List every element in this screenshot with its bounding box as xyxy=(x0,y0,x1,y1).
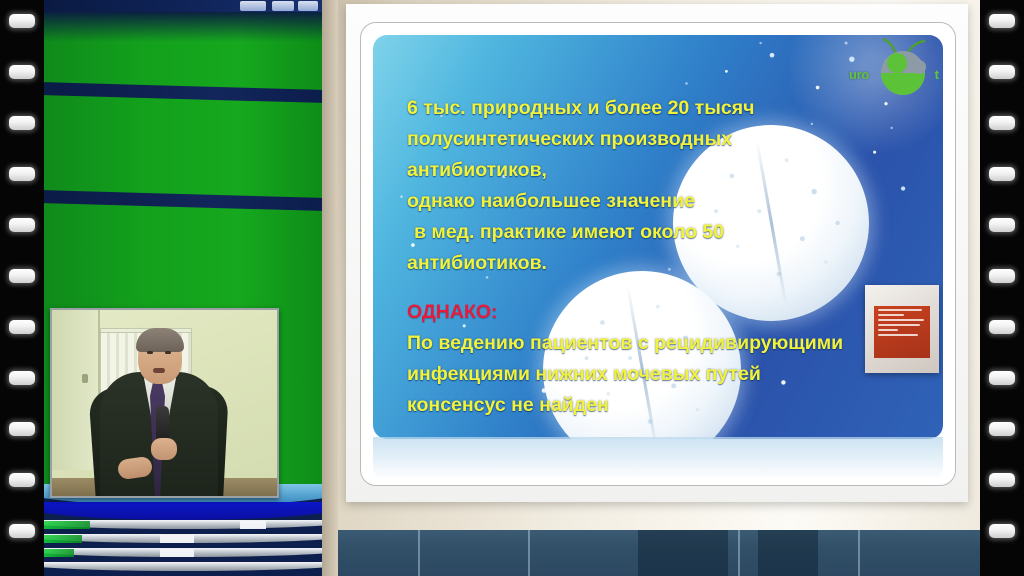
desk-green-accent xyxy=(44,521,90,529)
slide-spacer xyxy=(407,279,927,297)
video-door-knob xyxy=(82,374,88,383)
presentation-board[interactable]: uro t 6 тыс. природных и более 20 тысяч … xyxy=(346,4,968,502)
logo-text-right: t xyxy=(935,67,939,82)
studio-backdrop xyxy=(44,0,322,576)
slide-line: полусинтетических производных xyxy=(407,124,927,155)
slide-line: 6 тыс. природных и более 20 тысяч xyxy=(407,93,927,124)
slide-line: в мед. практике имеют около 50 xyxy=(407,217,927,248)
slide-line: инфекциями нижних мочевых путей xyxy=(407,359,927,390)
slide-line: антибиотиков, xyxy=(407,155,927,186)
broadcast-scene: uro t 6 тыс. природных и более 20 тысяч … xyxy=(44,0,980,576)
ceiling-light xyxy=(272,1,294,11)
film-strip-left xyxy=(0,0,44,576)
slide-text-block: 6 тыс. природных и более 20 тысяч полуси… xyxy=(407,93,927,421)
speaker-eye-right xyxy=(165,351,171,354)
film-sprocket-hole xyxy=(989,320,1015,334)
film-sprocket-hole xyxy=(9,14,35,28)
speaker-hair xyxy=(136,328,184,352)
film-sprocket-hole xyxy=(9,218,35,232)
desk-blue-band xyxy=(44,502,322,520)
film-sprocket-hole xyxy=(989,14,1015,28)
slide-frame: uro t 6 тыс. природных и более 20 тысяч … xyxy=(360,22,956,486)
film-sprocket-hole xyxy=(989,269,1015,283)
band-seam xyxy=(738,530,740,576)
speaker-eye-left xyxy=(147,351,153,354)
band-seam xyxy=(858,530,860,576)
film-sprocket-hole xyxy=(989,116,1015,130)
film-sprocket-hole xyxy=(9,167,35,181)
film-sprocket-hole xyxy=(9,116,35,130)
speaker-mouth xyxy=(153,368,165,373)
desk-green-accent xyxy=(44,549,74,557)
film-sprocket-hole xyxy=(989,473,1015,487)
film-sprocket-hole xyxy=(9,422,35,436)
ceiling-light xyxy=(240,1,266,11)
film-sprocket-hole xyxy=(989,524,1015,538)
wall-stripe xyxy=(44,82,322,103)
film-sprocket-hole xyxy=(9,371,35,385)
wall-stripe xyxy=(44,190,322,211)
film-sprocket-hole xyxy=(989,65,1015,79)
band-shadow xyxy=(758,530,818,576)
film-sprocket-hole xyxy=(989,371,1015,385)
desk-chrome-band xyxy=(44,562,322,571)
desk-highlight xyxy=(160,549,194,557)
film-sprocket-hole xyxy=(989,422,1015,436)
speaker-hand-right xyxy=(151,438,177,460)
band-shadow xyxy=(638,530,728,576)
film-sprocket-hole xyxy=(989,218,1015,232)
slide-line: консенсус не найден xyxy=(407,390,927,421)
wall-bottom-band xyxy=(338,530,980,576)
slide-line: По ведению пациентов с рецидивирующими xyxy=(407,328,927,359)
wall-top-shadow xyxy=(44,12,322,42)
film-sprocket-hole xyxy=(9,65,35,79)
film-sprocket-hole xyxy=(9,524,35,538)
band-seam xyxy=(418,530,420,576)
slide-background-photo: uro t 6 тыс. природных и более 20 тысяч … xyxy=(373,35,943,439)
film-sprocket-hole xyxy=(989,167,1015,181)
screenshot-stage: uro t 6 тыс. природных и более 20 тысяч … xyxy=(0,0,1024,576)
wall-corner-edge xyxy=(322,0,338,576)
desk-highlight xyxy=(240,521,266,529)
desk-highlight xyxy=(160,535,194,543)
slide-line: однако наибольшее значение xyxy=(407,186,927,217)
slide-line: антибиотиков. xyxy=(407,248,927,279)
slide-reflection xyxy=(373,437,943,479)
slide-emphasis-label: ОДНАКО: xyxy=(407,297,927,328)
speaker-video-inset[interactable] xyxy=(50,308,279,498)
ceiling-light xyxy=(298,1,318,11)
desk-green-accent xyxy=(44,535,82,543)
logo-text-left: uro xyxy=(849,67,869,82)
band-seam xyxy=(528,530,530,576)
film-strip-right xyxy=(980,0,1024,576)
film-sprocket-hole xyxy=(9,473,35,487)
film-sprocket-hole xyxy=(9,320,35,334)
film-sprocket-hole xyxy=(9,269,35,283)
